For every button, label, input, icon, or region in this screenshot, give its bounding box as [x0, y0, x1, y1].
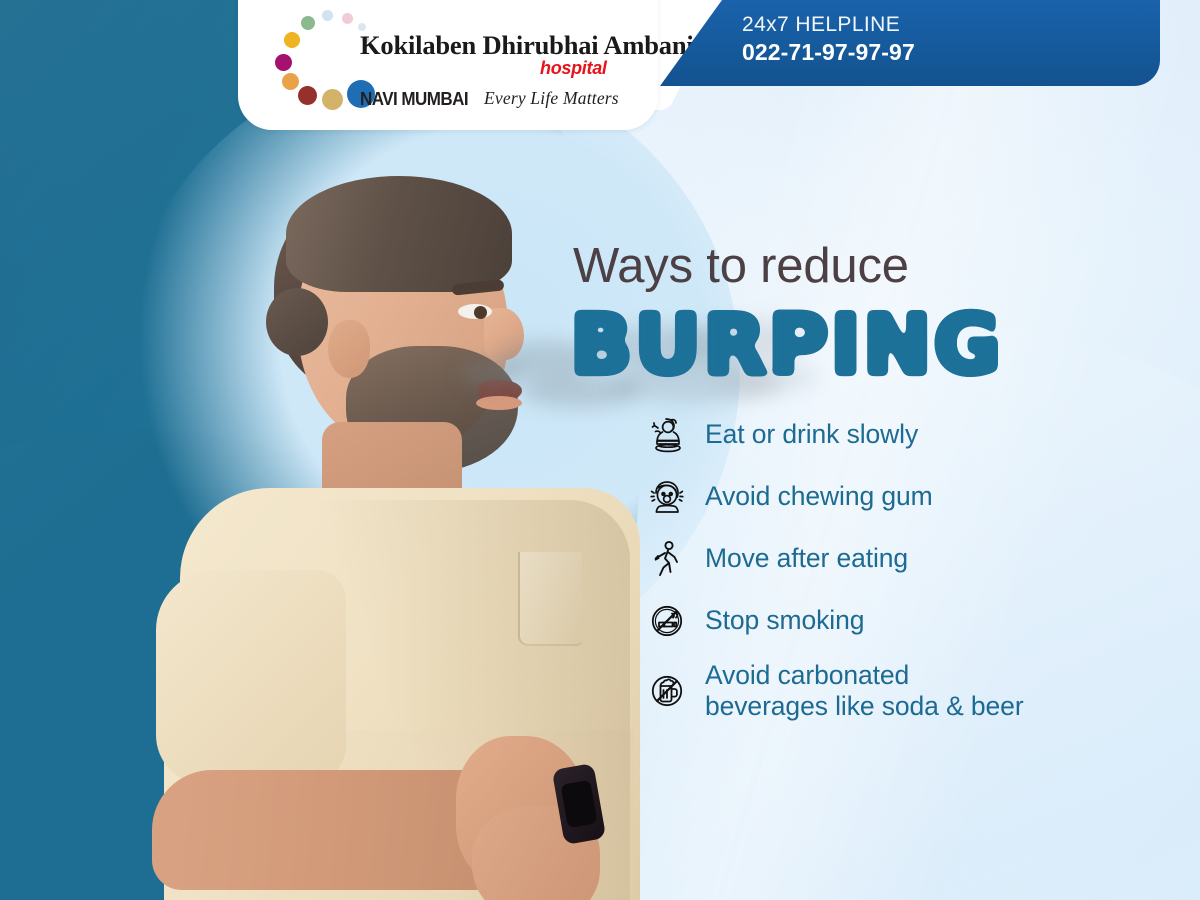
logo-dot [275, 54, 292, 71]
logo-dot [322, 89, 343, 110]
logo-dot [298, 86, 317, 105]
page-title: Ways to reduce [573, 238, 909, 294]
logo-tagline: Every Life Matters [484, 88, 619, 109]
chewing-face-icon [645, 475, 689, 519]
keyword-burping: BURPING [570, 298, 1003, 393]
logo-dot [322, 10, 333, 21]
helpline-text-group: 24x7 HELPLINE 022-71-97-97-97 [742, 12, 915, 67]
helpline-label: 24x7 HELPLINE [742, 12, 915, 38]
list-item-label: Stop smoking [705, 605, 864, 636]
person-eating-icon [645, 413, 689, 457]
list-item: Move after eating [645, 536, 1165, 582]
logo-dot [301, 16, 315, 30]
ear [328, 320, 370, 378]
list-item: Avoid chewing gum [645, 474, 1165, 520]
logo-city: NAVI MUMBAI [360, 88, 468, 110]
logo-dot [284, 32, 300, 48]
poster-root: Kokilaben Dhirubhai Ambani hospital NAVI… [0, 0, 1200, 900]
list-item-label: Avoid chewing gum [705, 481, 933, 512]
list-item: Stop smoking [645, 598, 1165, 644]
tips-list: Eat or drink slowly Avoid chewing gum [645, 412, 1165, 739]
logo-dot [342, 13, 353, 24]
logo-hospital-word: hospital [540, 58, 607, 79]
no-smoking-icon [645, 599, 689, 643]
list-item: Avoid carbonated beverages like soda & b… [645, 660, 1165, 723]
list-item: Eat or drink slowly [645, 412, 1165, 458]
list-item-label-line1: Avoid carbonated [705, 660, 909, 690]
logo-name: Kokilaben Dhirubhai Ambani [360, 30, 694, 61]
list-item-label: Move after eating [705, 543, 908, 574]
no-beer-icon [645, 669, 689, 713]
hospital-logo[interactable]: Kokilaben Dhirubhai Ambani hospital NAVI… [262, 8, 662, 120]
list-item-label: Avoid carbonated beverages like soda & b… [705, 660, 1024, 723]
list-item-label: Eat or drink slowly [705, 419, 918, 450]
logo-dot-spiral-icon [272, 10, 364, 110]
walking-person-icon [645, 537, 689, 581]
logo-dot [282, 73, 299, 90]
hair-bun [266, 288, 328, 356]
list-item-label-line2: beverages like soda & beer [705, 691, 1024, 722]
hair-top [286, 176, 512, 292]
helpline-number[interactable]: 022-71-97-97-97 [742, 38, 915, 67]
